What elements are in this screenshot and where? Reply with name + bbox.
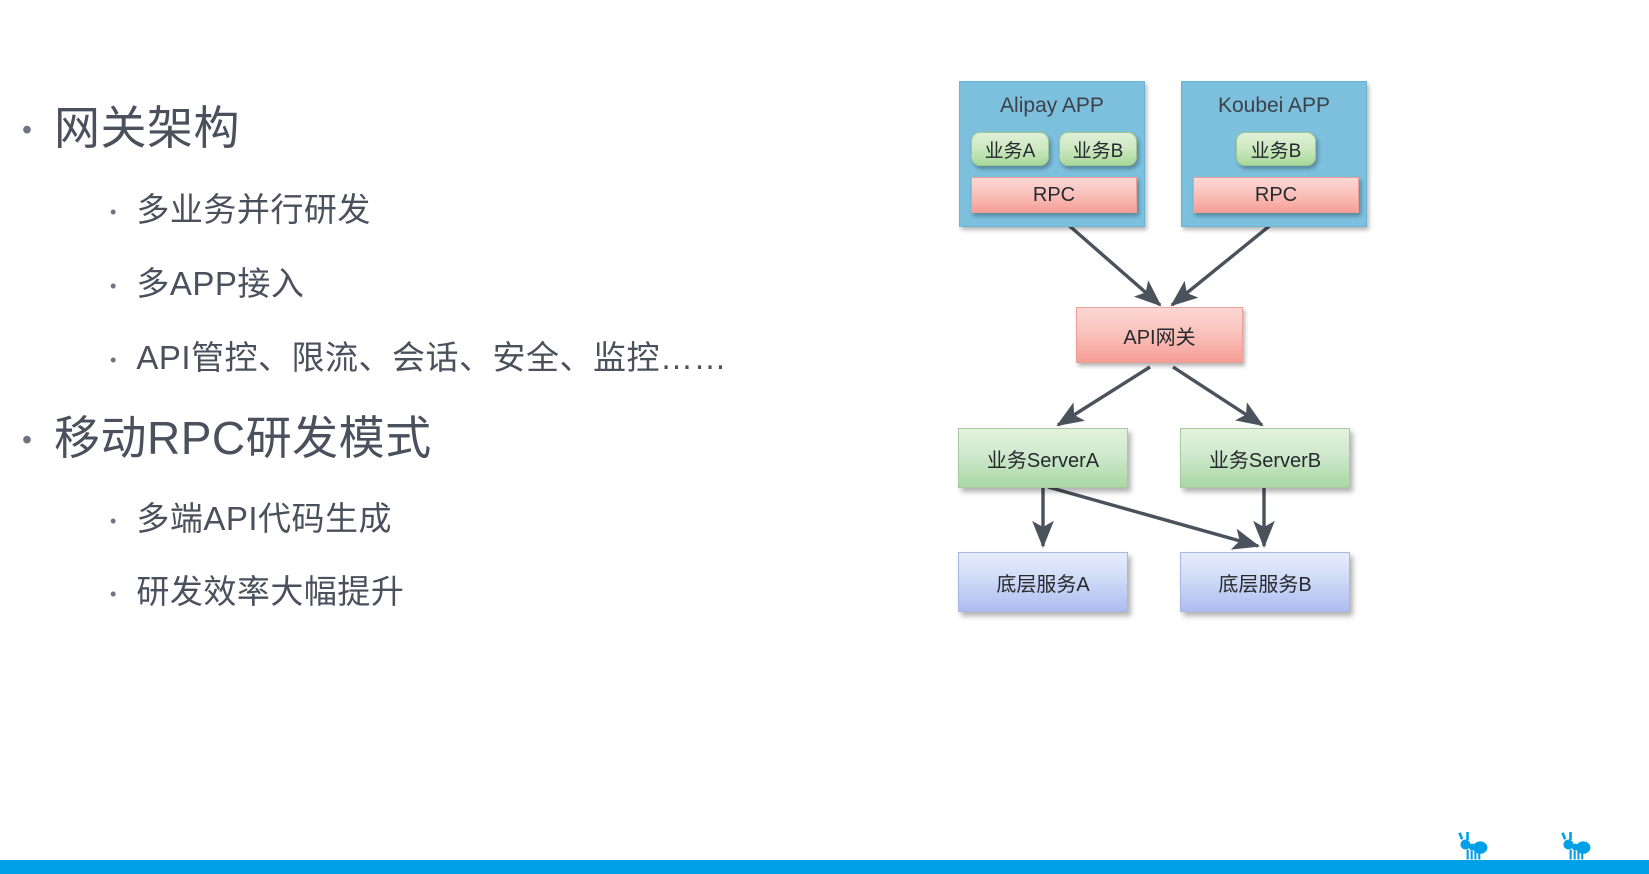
service-chip-label: 业务B <box>1073 136 1124 163</box>
app-container-alipay: Alipay APP 业务A 业务B RPC <box>959 81 1145 227</box>
app-title-koubei: Koubei APP <box>1182 94 1366 118</box>
rpc-bar-label: RPC <box>1033 184 1075 207</box>
rpc-bar-alipay[interactable]: RPC <box>971 177 1137 213</box>
architecture-diagram: Alipay APP 业务A 业务B RPC Koubei APP 业务B RP… <box>0 0 1649 874</box>
business-server-a-box[interactable]: 业务ServerA <box>958 428 1128 488</box>
base-service-b-box[interactable]: 底层服务B <box>1180 552 1350 612</box>
arrow-gateway-to-server-b <box>1173 367 1262 425</box>
base-service-a-box[interactable]: 底层服务A <box>958 552 1128 612</box>
arrow-alipay-rpc-to-gateway <box>1057 215 1160 305</box>
ant-logo-right-icon <box>1558 832 1592 862</box>
service-chip-koubei-b[interactable]: 业务B <box>1236 132 1316 166</box>
footer-accent-bar <box>0 860 1649 874</box>
slide-canvas: • 网关架构 • 多业务并行研发 • 多APP接入 • API管控、限流、会话、… <box>0 0 1649 874</box>
service-chip-alipay-a[interactable]: 业务A <box>971 132 1049 166</box>
business-server-label: 业务ServerA <box>987 444 1099 473</box>
rpc-bar-label: RPC <box>1255 184 1297 207</box>
ant-logo-left-icon <box>1455 832 1489 862</box>
app-container-koubei: Koubei APP 业务B RPC <box>1181 81 1367 227</box>
api-gateway-label: API网关 <box>1123 321 1195 350</box>
rpc-bar-koubei[interactable]: RPC <box>1193 177 1359 213</box>
arrow-koubei-rpc-to-gateway <box>1172 215 1283 305</box>
service-chip-label: 业务A <box>985 136 1036 163</box>
base-service-label: 底层服务A <box>996 568 1089 597</box>
business-server-label: 业务ServerB <box>1209 444 1321 473</box>
arrow-gateway-to-server-a <box>1058 367 1150 425</box>
app-title-alipay: Alipay APP <box>960 94 1144 118</box>
service-chip-label: 业务B <box>1251 136 1302 163</box>
api-gateway-box[interactable]: API网关 <box>1076 307 1243 363</box>
arrow-server-a-to-base-service-b <box>1048 487 1258 546</box>
service-chip-alipay-b[interactable]: 业务B <box>1059 132 1137 166</box>
base-service-label: 底层服务B <box>1218 568 1311 597</box>
business-server-b-box[interactable]: 业务ServerB <box>1180 428 1350 488</box>
diagram-arrows <box>0 0 1649 874</box>
